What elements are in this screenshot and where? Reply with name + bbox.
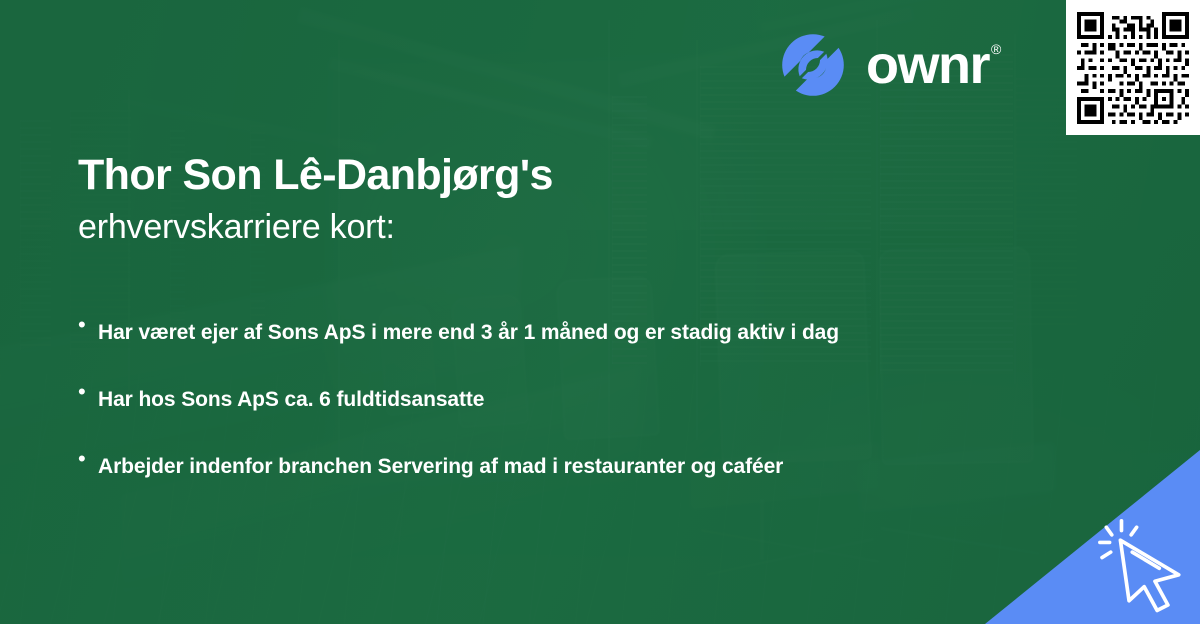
- list-item-text: Har hos Sons ApS ca. 6 fuldtidsansatte: [98, 377, 484, 422]
- registered-trademark-symbol: ®: [991, 42, 1001, 56]
- list-item: • Har været ejer af Sons ApS i mere end …: [78, 310, 878, 355]
- qr-code-icon: [1077, 12, 1189, 124]
- list-item: • Arbejder indenfor branchen Servering a…: [78, 444, 878, 489]
- bullet-icon: •: [78, 310, 98, 340]
- list-item: • Har hos Sons ApS ca. 6 fuldtidsansatte: [78, 377, 878, 422]
- ownr-logo[interactable]: ownr ®: [778, 30, 1001, 100]
- page-title-name: Thor Son Lê-Danbjørg's: [78, 150, 838, 201]
- ownr-wordmark: ownr ®: [866, 38, 1001, 92]
- ownr-wordmark-text: ownr: [866, 38, 989, 92]
- page-title-subtitle: erhvervskarriere kort:: [78, 205, 838, 250]
- ownr-swirl-icon: [778, 30, 848, 100]
- ownr-career-card: ownr ®: [0, 0, 1200, 624]
- bullet-icon: •: [78, 444, 98, 474]
- list-item-text: Har været ejer af Sons ApS i mere end 3 …: [98, 310, 839, 355]
- page-title: Thor Son Lê-Danbjørg's erhvervskarriere …: [78, 150, 838, 250]
- bullet-icon: •: [78, 377, 98, 407]
- click-cursor-icon: [1088, 510, 1196, 618]
- career-facts-list: • Har været ejer af Sons ApS i mere end …: [78, 310, 878, 511]
- qr-code-panel[interactable]: [1066, 0, 1200, 135]
- list-item-text: Arbejder indenfor branchen Servering af …: [98, 444, 783, 489]
